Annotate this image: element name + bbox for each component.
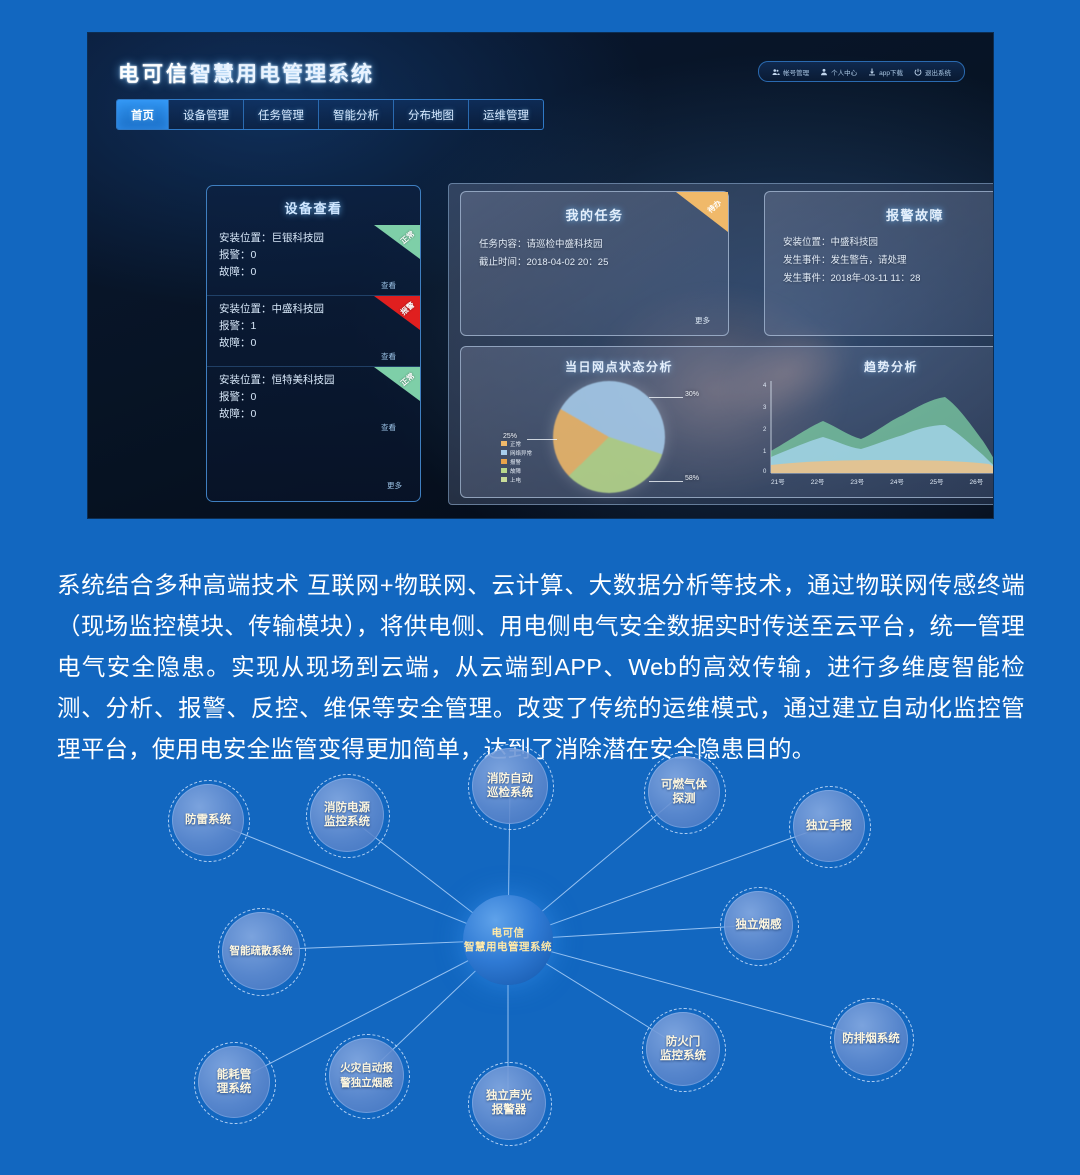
trend-chart-plot: 4 3 2 1 0 <box>757 377 993 485</box>
person-icon <box>820 68 828 76</box>
tab-distribution-map[interactable]: 分布地图 <box>394 100 469 129</box>
pie-value-label: 58% <box>685 475 699 482</box>
alarm-fault-panel: 已处理 报警故障 安装位置：中盛科技园 发生事件：发生警告，请处理 发生事件：2… <box>764 191 993 336</box>
tab-device-management[interactable]: 设备管理 <box>169 100 244 129</box>
legend-label: 正常 <box>510 440 521 448</box>
alarm-time: 发生事件：2018年-03-11 11：28 <box>783 270 993 288</box>
node-fire-auto-inspection[interactable]: 消防自动 巡检系统 <box>472 748 548 824</box>
node-label: 独立烟感 <box>732 918 786 933</box>
x-tick: 21号 <box>771 476 785 486</box>
x-tick: 22号 <box>811 476 825 486</box>
x-tick: 25号 <box>930 476 944 486</box>
node-label: 防火门 监控系统 <box>656 1035 710 1064</box>
utility-label-logout: 退出系统 <box>925 67 951 77</box>
app-title-rest: 智慧用电管理系统 <box>190 63 374 86</box>
x-tick: 24号 <box>890 476 904 486</box>
x-tick: 23号 <box>850 476 864 486</box>
pie-chart-title: 当日网点状态分析 <box>519 358 719 375</box>
trend-chart-title: 趋势分析 <box>791 358 991 375</box>
alarm-event: 发生事件：发生警告，请处理 <box>783 252 993 270</box>
download-icon <box>868 68 876 76</box>
device-more-link[interactable]: 更多 <box>387 480 402 491</box>
device-list-item[interactable]: 报警 安装位置：中盛科技园 报警：1 故障：0 查看 <box>207 296 420 367</box>
utility-label-download: app下载 <box>879 67 903 77</box>
system-relationship-diagram: 电可信 智慧用电管理系统 防雷系统 消防电源 监控系统 消防自动 巡检系统 可燃… <box>0 740 1080 1175</box>
main-nav-tabs: 首页 设备管理 任务管理 智能分析 分布地图 运维管理 <box>116 99 544 130</box>
node-label: 可燃气体 探测 <box>657 778 711 807</box>
device-list: 正常 安装位置：巨银科技园 报警：0 故障：0 查看 报警 安装位置：中盛科技园… <box>207 225 420 437</box>
node-energy-management[interactable]: 能耗管 理系统 <box>198 1046 270 1118</box>
utility-label-profile: 个人中心 <box>831 67 857 77</box>
device-panel-title: 设备查看 <box>207 198 420 217</box>
legend-item: 网络异常 <box>501 448 532 457</box>
charts-panel: 当日网点状态分析 趋势分析 30% 25% 58% 正常 网络异常 报警 故障 … <box>460 346 993 498</box>
users-icon <box>772 68 780 76</box>
node-smoke-exhaust-system[interactable]: 防排烟系统 <box>834 1002 908 1076</box>
dashboard-screenshot: 电可信智慧用电管理系统 帐号管理 个人中心 app下载 退出系统 首页 设备管理… <box>88 33 993 518</box>
tab-home[interactable]: 首页 <box>117 100 169 129</box>
device-list-item[interactable]: 正常 安装位置：巨银科技园 报警：0 故障：0 查看 <box>207 225 420 296</box>
pie-leader-line <box>649 397 683 398</box>
task-status-badge: 待办 <box>676 192 728 232</box>
pie-leader-line <box>649 481 683 482</box>
legend-swatch <box>501 441 507 446</box>
pie-chart: 30% 25% 58% 正常 网络异常 报警 故障 上电 <box>553 381 665 493</box>
device-view-link[interactable]: 查看 <box>219 351 410 362</box>
node-label: 防排烟系统 <box>838 1032 904 1047</box>
tab-ops-management[interactable]: 运维管理 <box>469 100 543 129</box>
node-label: 独立手报 <box>802 819 856 834</box>
center-node[interactable]: 电可信 智慧用电管理系统 <box>463 895 553 985</box>
center-node-line1: 电可信 <box>492 926 525 940</box>
alarm-location: 安装位置：中盛科技园 <box>783 234 993 252</box>
app-title: 电可信智慧用电管理系统 <box>118 58 374 88</box>
legend-item: 报警 <box>501 457 532 466</box>
task-more-link[interactable]: 更多 <box>695 315 710 326</box>
svg-text:2: 2 <box>763 427 767 433</box>
node-fire-auto-alarm-smoke[interactable]: 火灾自动报 警独立烟感 <box>329 1038 404 1113</box>
task-deadline: 截止时间：2018-04-02 20：25 <box>479 254 728 272</box>
node-standalone-manual-alarm[interactable]: 独立手报 <box>793 790 865 862</box>
device-view-link[interactable]: 查看 <box>219 422 410 433</box>
legend-item: 上电 <box>501 475 532 484</box>
legend-item: 故障 <box>501 466 532 475</box>
task-content: 任务内容：请巡检中盛科技园 <box>479 236 728 254</box>
svg-text:4: 4 <box>763 383 767 389</box>
device-view-link[interactable]: 查看 <box>219 280 410 291</box>
utility-item-download[interactable]: app下载 <box>868 67 903 77</box>
node-label: 防雷系统 <box>181 813 235 828</box>
legend-label: 上电 <box>510 476 521 484</box>
node-standalone-audible-visual-alarm[interactable]: 独立声光 报警器 <box>472 1066 546 1140</box>
status-badge: 报警 <box>374 296 420 330</box>
legend-swatch <box>501 468 507 473</box>
status-badge: 正常 <box>374 367 420 401</box>
my-task-panel: 待办 我的任务 任务内容：请巡检中盛科技园 截止时间：2018-04-02 20… <box>460 191 729 336</box>
pie-value-label: 30% <box>685 391 699 398</box>
tab-smart-analysis[interactable]: 智能分析 <box>319 100 394 129</box>
pie-chart-legend: 正常 网络异常 报警 故障 上电 <box>501 439 532 484</box>
power-icon <box>914 68 922 76</box>
device-fault-count: 故障：0 <box>219 406 410 423</box>
node-combustible-gas-detection[interactable]: 可燃气体 探测 <box>648 756 720 828</box>
utility-item-profile[interactable]: 个人中心 <box>820 67 857 77</box>
tab-task-management[interactable]: 任务管理 <box>244 100 319 129</box>
center-node-line2: 智慧用电管理系统 <box>464 940 552 954</box>
node-label: 消防自动 巡检系统 <box>483 772 537 801</box>
utility-item-account[interactable]: 帐号管理 <box>772 67 809 77</box>
node-label: 火灾自动报 警独立烟感 <box>336 1061 397 1090</box>
brand-name: 电可信 <box>118 63 190 86</box>
node-label: 消防电源 监控系统 <box>320 801 374 830</box>
x-tick: 26号 <box>970 476 984 486</box>
legend-swatch <box>501 459 507 464</box>
device-fault-count: 故障：0 <box>219 264 410 281</box>
legend-swatch <box>501 450 507 455</box>
legend-label: 故障 <box>510 467 521 475</box>
intro-paragraph: 系统结合多种高端技术 互联网+物联网、云计算、大数据分析等技术，通过物联网传感终… <box>57 565 1025 770</box>
node-lightning-protection[interactable]: 防雷系统 <box>172 784 244 856</box>
alarm-panel-title: 报警故障 <box>765 205 993 224</box>
node-label: 能耗管 理系统 <box>213 1068 256 1097</box>
legend-label: 网络异常 <box>510 449 532 457</box>
node-fire-door-monitoring[interactable]: 防火门 监控系统 <box>646 1012 720 1086</box>
status-badge: 正常 <box>374 225 420 259</box>
utility-item-logout[interactable]: 退出系统 <box>914 67 951 77</box>
node-fire-power-monitoring[interactable]: 消防电源 监控系统 <box>310 778 384 852</box>
trend-chart: 4 3 2 1 0 21号 22号 23号 24号 25号 26号 27号 报警… <box>757 377 993 485</box>
node-label: 智能疏散系统 <box>226 944 297 959</box>
node-label: 独立声光 报警器 <box>482 1089 536 1118</box>
node-standalone-smoke-detector[interactable]: 独立烟感 <box>724 891 793 960</box>
legend-item: 正常 <box>501 439 532 448</box>
trend-x-axis: 21号 22号 23号 24号 25号 26号 27号 <box>771 476 993 486</box>
utility-bar: 帐号管理 个人中心 app下载 退出系统 <box>758 61 965 82</box>
device-fault-count: 故障：0 <box>219 335 410 352</box>
svg-text:1: 1 <box>763 449 767 455</box>
legend-label: 报警 <box>510 458 521 466</box>
device-view-panel: 设备查看 正常 安装位置：巨银科技园 报警：0 故障：0 查看 报警 安装位置：… <box>206 185 421 502</box>
device-list-item[interactable]: 正常 安装位置：恒特美科技园 报警：0 故障：0 查看 <box>207 367 420 437</box>
svg-text:0: 0 <box>763 469 767 475</box>
legend-swatch <box>501 477 507 482</box>
svg-text:3: 3 <box>763 405 767 411</box>
node-smart-evacuation[interactable]: 智能疏散系统 <box>222 912 300 990</box>
utility-label-account: 帐号管理 <box>783 67 809 77</box>
